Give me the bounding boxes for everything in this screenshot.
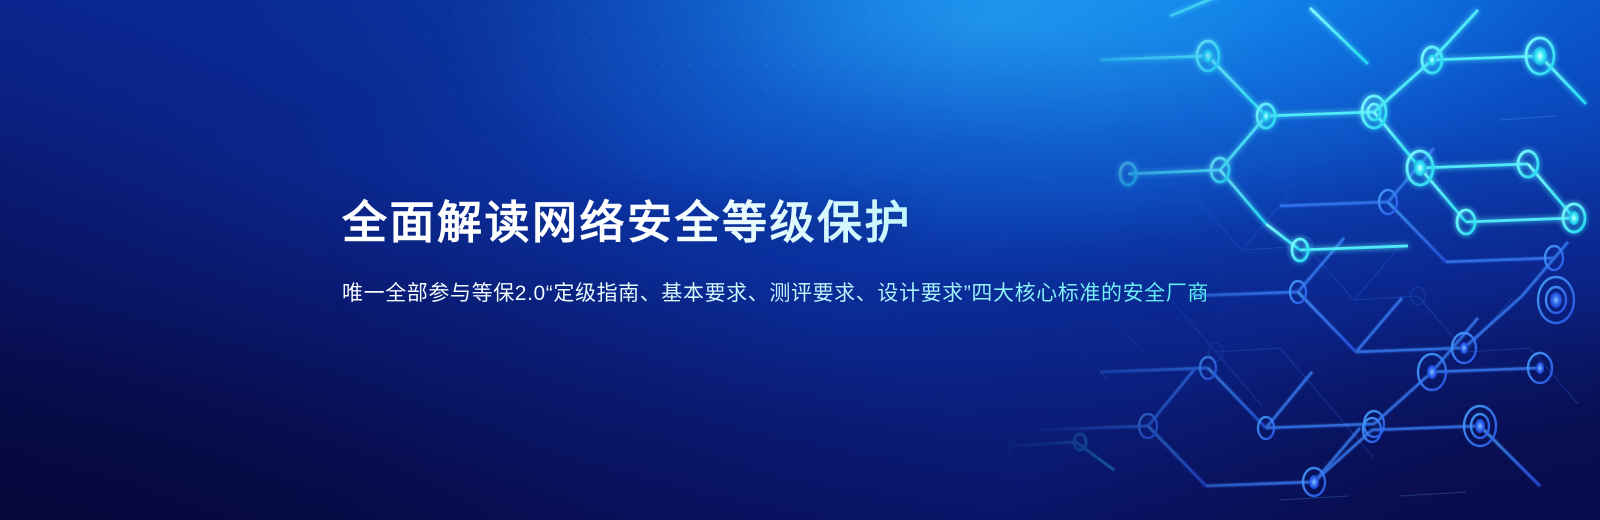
hero-banner: 全面解读网络安全等级保护 唯一全部参与等保2.0“定级指南、基本要求、测评要求、… [0, 0, 1600, 520]
hero-text-block: 全面解读网络安全等级保护 唯一全部参与等保2.0“定级指南、基本要求、测评要求、… [342, 196, 1342, 307]
page-title: 全面解读网络安全等级保护 [342, 196, 1342, 249]
page-subtitle: 唯一全部参与等保2.0“定级指南、基本要求、测评要求、设计要求”四大核心标准的安… [342, 280, 1342, 307]
